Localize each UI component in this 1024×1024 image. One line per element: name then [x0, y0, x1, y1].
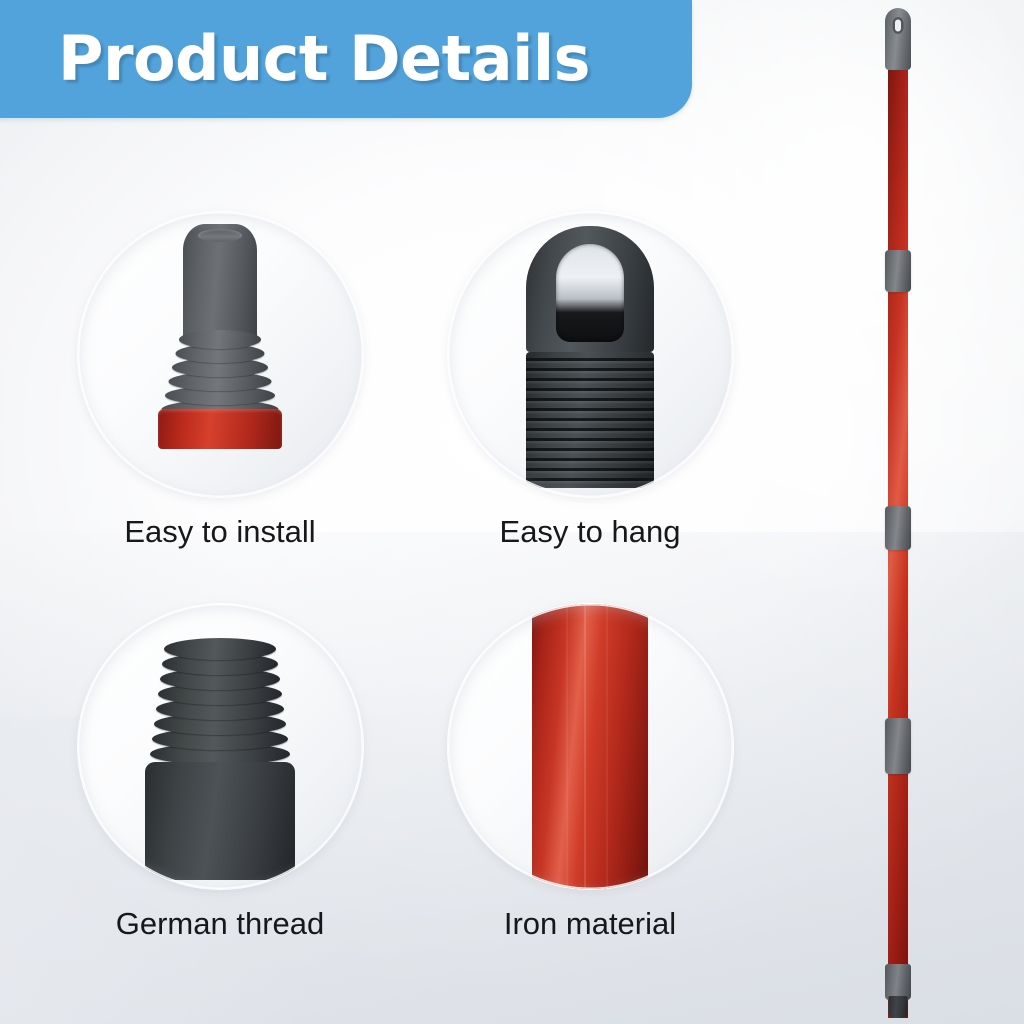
- german-thread-collar: [145, 762, 295, 880]
- tube-seam: [584, 604, 586, 889]
- grip-rib: [526, 388, 654, 391]
- grip-rib: [526, 398, 654, 401]
- screw-tip-cap-top: [198, 229, 242, 242]
- hang-cap-illustration: [515, 226, 665, 488]
- tube-seam: [566, 604, 568, 889]
- grip-rib: [526, 408, 654, 411]
- grip-rib: [526, 448, 654, 451]
- feature-iron-material: Iron material: [440, 604, 740, 941]
- german-thread-rings: [150, 638, 290, 764]
- feature-easy-to-hang: Easy to hang: [440, 212, 740, 549]
- thread-ring: [164, 638, 276, 660]
- red-iron-tube: [532, 604, 648, 889]
- tube-seam: [606, 604, 608, 889]
- screw-tip-illustration: [155, 212, 285, 497]
- feature-easy-to-install: Easy to install: [70, 212, 370, 549]
- feature-image-iron-material: [448, 604, 733, 889]
- pole-hang-hole: [893, 17, 904, 34]
- pole-collar-lower: [885, 718, 911, 774]
- pole-collar-upper: [885, 250, 911, 292]
- grip-rib: [526, 428, 654, 431]
- pole-bottom-ferrule: [885, 964, 911, 1000]
- red-pole-base: [158, 409, 282, 449]
- grip-rib: [526, 468, 654, 471]
- product-pole: [878, 8, 918, 1018]
- hang-hole: [556, 244, 624, 342]
- screw-tip-cap: [183, 224, 257, 340]
- german-thread-illustration: [140, 638, 300, 878]
- pole-collar-middle: [885, 506, 911, 550]
- grip-rib: [526, 358, 654, 361]
- grip-rib: [526, 378, 654, 381]
- pole-top-cap: [885, 8, 911, 70]
- feature-image-easy-to-hang: [448, 212, 733, 497]
- feature-label-easy-to-hang: Easy to hang: [440, 515, 740, 549]
- hang-cap-ribs: [526, 352, 654, 488]
- feature-german-thread: German thread: [70, 604, 370, 941]
- thread-ring: [179, 330, 261, 349]
- page-title: Product Details: [58, 28, 590, 90]
- pole-bottom-tip: [889, 996, 908, 1018]
- feature-label-iron-material: Iron material: [440, 907, 740, 941]
- feature-label-easy-to-install: Easy to install: [70, 515, 370, 549]
- product-details-banner: Product Details: [0, 0, 692, 118]
- hang-cap-head: [526, 226, 654, 352]
- feature-label-german-thread: German thread: [70, 907, 370, 941]
- product-details-page: Product Details Easy to install: [0, 0, 1024, 1024]
- grip-rib: [526, 478, 654, 481]
- feature-image-german-thread: [78, 604, 363, 889]
- grip-rib: [526, 458, 654, 461]
- grip-rib: [526, 368, 654, 371]
- grip-rib: [526, 418, 654, 421]
- grip-rib: [526, 438, 654, 441]
- feature-image-easy-to-install: [78, 212, 363, 497]
- feature-grid: Easy to install Easy to hang: [60, 212, 760, 1002]
